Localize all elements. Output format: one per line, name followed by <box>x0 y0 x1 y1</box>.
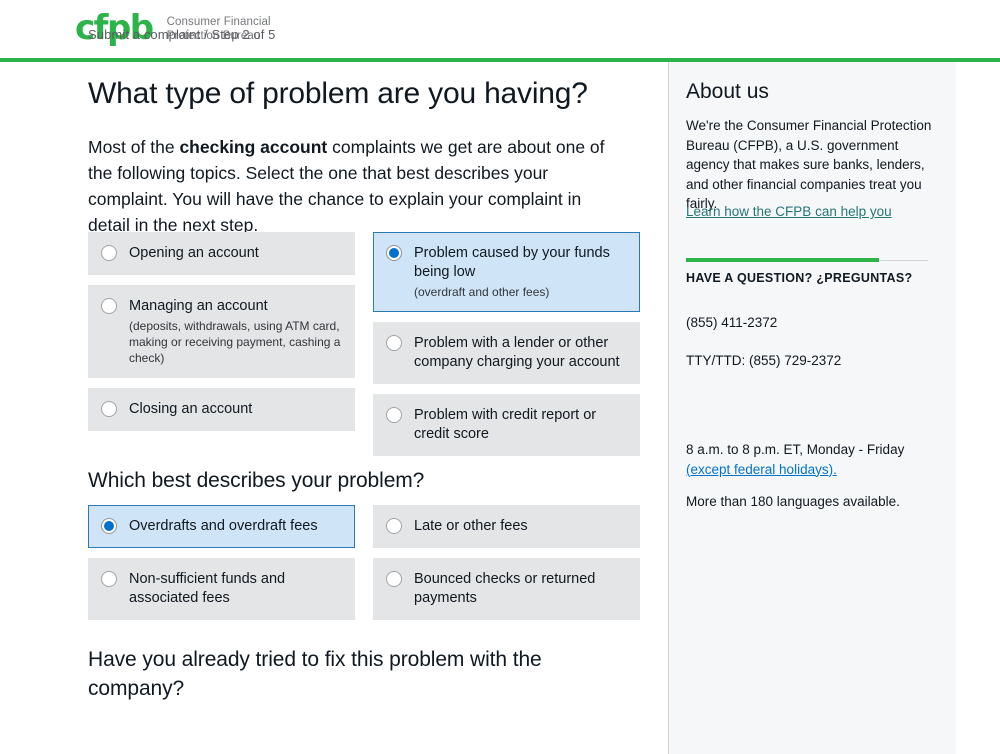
option-describe-right-0[interactable]: Late or other fees <box>373 505 640 548</box>
option-describe-left-1[interactable]: Non-sufficient funds and associated fees <box>88 558 355 620</box>
radio-selected-icon[interactable] <box>386 245 402 261</box>
option-sublabel: (overdraft and other fees) <box>414 284 627 300</box>
sidebar-languages: More than 180 languages available. <box>686 492 934 512</box>
option-label: Opening an account <box>129 244 342 263</box>
radio-unselected-icon[interactable] <box>386 335 402 351</box>
option-describe-left-0[interactable]: Overdrafts and overdraft fees <box>88 505 355 548</box>
radio-unselected-icon[interactable] <box>386 571 402 587</box>
breadcrumb: Submit a complaint / Step 2 of 5 <box>88 27 276 42</box>
option-label: Problem with a lender or other company c… <box>414 334 627 372</box>
intro-paragraph: Most of the checking account complaints … <box>88 134 608 238</box>
breadcrumb-root[interactable]: Submit a complaint <box>88 27 200 42</box>
option-label: Late or other fees <box>414 517 627 536</box>
option-label: Problem with credit report or credit sco… <box>414 406 627 444</box>
sidebar-body: We're the Consumer Financial Protection … <box>686 116 934 214</box>
option-topic-left-1[interactable]: Managing an account(deposits, withdrawal… <box>88 285 355 378</box>
describe-options-left-column: Overdrafts and overdraft feesNon-suffici… <box>88 505 355 630</box>
describe-section-title: Which best describes your problem? <box>88 467 424 495</box>
sidebar-tty-phone: TTY/TTD: (855) 729-2372 <box>686 351 934 371</box>
option-label: Bounced checks or returned payments <box>414 570 627 608</box>
radio-unselected-icon[interactable] <box>386 518 402 534</box>
sidebar-divider <box>686 260 928 261</box>
radio-unselected-icon[interactable] <box>101 571 117 587</box>
option-topic-right-0[interactable]: Problem caused by your funds being low(o… <box>373 232 640 312</box>
sidebar-holidays-link[interactable]: (except federal holidays). <box>686 462 837 477</box>
option-describe-right-1[interactable]: Bounced checks or returned payments <box>373 558 640 620</box>
topic-options-left-column: Opening an accountManaging an account(de… <box>88 232 355 441</box>
sidebar-hours: 8 a.m. to 8 p.m. ET, Monday - Friday (ex… <box>686 440 934 480</box>
sidebar-hours-text: 8 a.m. to 8 p.m. ET, Monday - Friday <box>686 442 904 457</box>
radio-unselected-icon[interactable] <box>101 298 117 314</box>
intro-text-bold: checking account <box>179 137 327 157</box>
option-label: Closing an account <box>129 400 342 419</box>
topic-options-right-column: Problem caused by your funds being low(o… <box>373 232 640 466</box>
option-topic-left-0[interactable]: Opening an account <box>88 232 355 275</box>
breadcrumb-separator: / <box>204 27 208 42</box>
option-sublabel: (deposits, withdrawals, using ATM card, … <box>129 318 342 366</box>
option-topic-left-2[interactable]: Closing an account <box>88 388 355 431</box>
sidebar-title: About us <box>686 79 934 105</box>
radio-unselected-icon[interactable] <box>101 401 117 417</box>
option-topic-right-1[interactable]: Problem with a lender or other company c… <box>373 322 640 384</box>
radio-unselected-icon[interactable] <box>101 245 117 261</box>
sidebar-help-link[interactable]: Learn how the CFPB can help you <box>686 202 934 221</box>
option-label: Overdrafts and overdraft fees <box>129 517 342 536</box>
sidebar-question-kicker: HAVE A QUESTION? ¿PREGUNTAS? <box>686 269 934 287</box>
breadcrumb-step: Step 2 of 5 <box>212 27 276 42</box>
page-title: What type of problem are you having? <box>88 76 588 112</box>
tried-section-title: Have you already tried to fix this probl… <box>88 645 588 703</box>
option-topic-right-2[interactable]: Problem with credit report or credit sco… <box>373 394 640 456</box>
option-label: Non-sufficient funds and associated fees <box>129 570 342 608</box>
option-label: Managing an account <box>129 297 342 316</box>
option-label: Problem caused by your funds being low <box>414 244 627 282</box>
intro-text-before: Most of the <box>88 137 179 157</box>
sidebar-phone: (855) 411-2372 <box>686 313 934 333</box>
radio-unselected-icon[interactable] <box>386 407 402 423</box>
describe-options-right-column: Late or other feesBounced checks or retu… <box>373 505 640 630</box>
radio-selected-icon[interactable] <box>101 518 117 534</box>
